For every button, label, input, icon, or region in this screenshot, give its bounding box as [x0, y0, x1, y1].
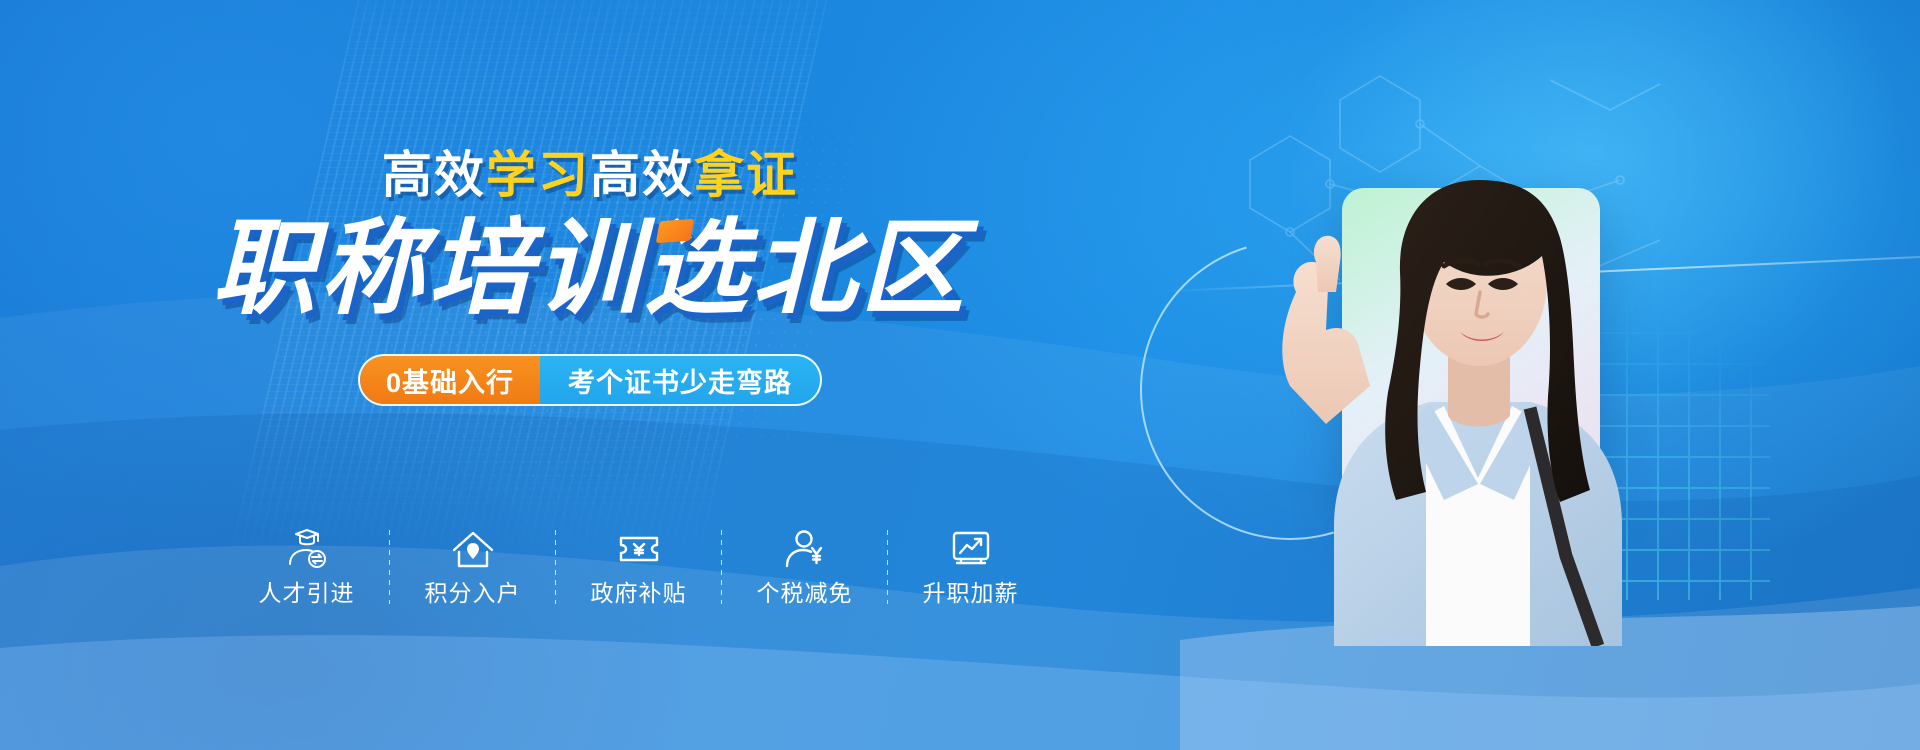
slogan-badge[interactable]: 0基础入行 考个证书少走弯路 — [358, 354, 822, 406]
instructor-photo — [1230, 86, 1670, 646]
feature-item-talent[interactable]: 人才引进 — [240, 528, 373, 605]
ticket-yuan-icon — [616, 528, 662, 570]
feature-divider — [389, 530, 390, 604]
feature-label: 积分入户 — [425, 582, 521, 605]
feature-list: 人才引进 积分入户 政府补贴 — [240, 528, 1037, 605]
page-title: 职称培训选北区 — [0, 214, 1180, 324]
feature-label: 个税减免 — [757, 582, 853, 605]
feature-divider — [887, 530, 888, 604]
title-text: 职称培训选北区 — [212, 211, 968, 327]
feature-divider — [721, 530, 722, 604]
badge-right-label: 考个证书少走弯路 — [540, 356, 820, 404]
kicker-part-2: 学习 — [486, 147, 590, 203]
graduate-person-icon — [284, 528, 330, 570]
feature-divider — [555, 530, 556, 604]
feature-item-promotion[interactable]: 升职加薪 — [904, 528, 1037, 605]
feature-item-tax-relief[interactable]: 个税减免 — [738, 528, 871, 605]
person-yuan-icon — [782, 528, 828, 570]
badge-left-label: 0基础入行 — [360, 356, 540, 404]
house-pin-icon — [450, 528, 496, 570]
kicker-part-3: 高效 — [590, 147, 694, 203]
promo-banner: 高效学习高效拿证 职称培训选北区 0基础入行 考个证书少走弯路 — [0, 0, 1920, 750]
feature-label: 升职加薪 — [923, 582, 1019, 605]
feature-item-subsidy[interactable]: 政府补贴 — [572, 528, 705, 605]
kicker-part-4: 拿证 — [694, 147, 798, 203]
headline-block: 高效学习高效拿证 职称培训选北区 0基础入行 考个证书少走弯路 — [0, 150, 1180, 406]
feature-label: 人才引进 — [259, 582, 355, 605]
orange-accent-mark — [656, 219, 694, 243]
kicker-line: 高效学习高效拿证 — [0, 150, 1180, 200]
feature-label: 政府补贴 — [591, 582, 687, 605]
feature-item-residency[interactable]: 积分入户 — [406, 528, 539, 605]
kicker-part-1: 高效 — [382, 147, 486, 203]
growth-chart-icon — [948, 528, 994, 570]
